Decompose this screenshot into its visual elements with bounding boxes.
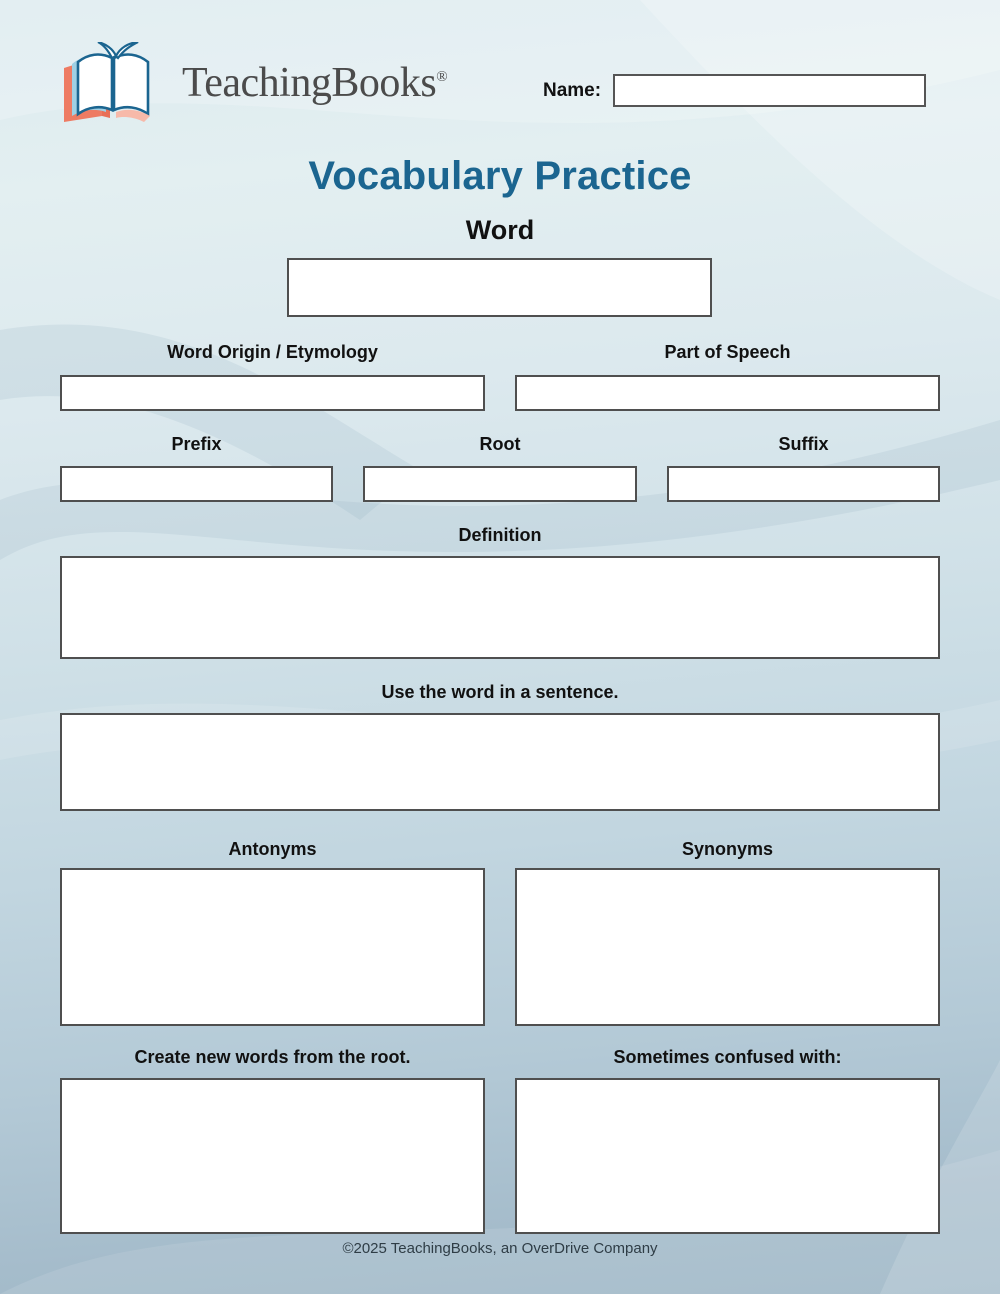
prefix-label: Prefix xyxy=(60,434,333,455)
teachingbooks-logo: TeachingBooks® xyxy=(58,42,448,124)
word-input[interactable] xyxy=(287,258,712,317)
page-title: Vocabulary Practice xyxy=(0,154,1000,199)
worksheet-header: TeachingBooks® Name: xyxy=(0,0,1000,140)
suffix-label: Suffix xyxy=(667,434,940,455)
definition-label: Definition xyxy=(60,525,940,546)
brand-name: TeachingBooks xyxy=(182,60,436,106)
new-words-input[interactable] xyxy=(60,1078,485,1234)
suffix-input[interactable] xyxy=(667,466,940,502)
worksheet-page: TeachingBooks® Name: Vocabulary Practice… xyxy=(0,0,1000,1294)
new-words-label: Create new words from the root. xyxy=(60,1047,485,1068)
name-input[interactable] xyxy=(613,74,926,107)
sentence-label: Use the word in a sentence. xyxy=(60,682,940,703)
synonyms-label: Synonyms xyxy=(515,839,940,860)
name-field-row: Name: xyxy=(543,74,926,107)
copyright-footer: ©2025 TeachingBooks, an OverDrive Compan… xyxy=(0,1240,1000,1257)
registered-mark-icon: ® xyxy=(436,69,447,85)
part-of-speech-input[interactable] xyxy=(515,375,940,411)
synonyms-input[interactable] xyxy=(515,868,940,1026)
open-book-icon xyxy=(58,42,170,124)
antonyms-label: Antonyms xyxy=(60,839,485,860)
root-input[interactable] xyxy=(363,466,637,502)
word-origin-input[interactable] xyxy=(60,375,485,411)
confused-with-label: Sometimes confused with: xyxy=(515,1047,940,1068)
brand-wordmark: TeachingBooks® xyxy=(182,62,448,104)
name-label: Name: xyxy=(543,80,601,102)
confused-with-input[interactable] xyxy=(515,1078,940,1234)
prefix-input[interactable] xyxy=(60,466,333,502)
antonyms-input[interactable] xyxy=(60,868,485,1026)
root-label: Root xyxy=(363,434,637,455)
definition-input[interactable] xyxy=(60,556,940,659)
word-section-label: Word xyxy=(0,215,1000,246)
sentence-input[interactable] xyxy=(60,713,940,811)
part-of-speech-label: Part of Speech xyxy=(515,342,940,363)
word-origin-label: Word Origin / Etymology xyxy=(60,342,485,363)
